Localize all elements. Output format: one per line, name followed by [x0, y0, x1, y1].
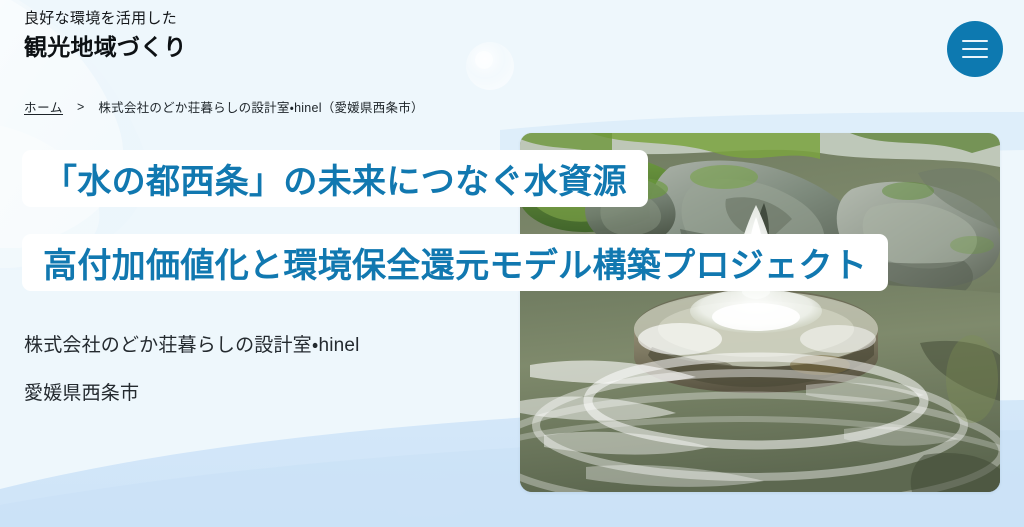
hamburger-icon-bar-top: [962, 40, 988, 42]
hero-organization-name: 株式会社のどか荘暮らしの設計室・hinel: [24, 336, 360, 355]
breadcrumb-link-home[interactable]: ホーム: [24, 97, 63, 116]
hero-title-line-2: 高付加価値化と環境保全還元モデル構築プロジェクト: [22, 234, 888, 291]
hero-meta: 株式会社のどか荘暮らしの設計室・hinel 愛媛県西条市: [24, 336, 360, 403]
brand-title: 観光地域づくり: [24, 32, 187, 63]
brand-subtitle: 良好な環境を活用した: [24, 8, 187, 31]
hero-title-line-1: 「水の都西条」の未来につなぐ水資源: [22, 150, 648, 207]
hamburger-menu-button[interactable]: [947, 21, 1003, 77]
breadcrumb-current-page: 株式会社のどか荘暮らしの設計室・hinel（愛媛県西条市）: [98, 97, 423, 116]
breadcrumb: ホーム > 株式会社のどか荘暮らしの設計室・hinel（愛媛県西条市）: [24, 97, 424, 116]
site-brand[interactable]: 良好な環境を活用した 観光地域づくり: [24, 8, 187, 63]
breadcrumb-separator: >: [77, 100, 84, 114]
hamburger-icon-bar-middle: [962, 48, 988, 50]
site-header: 良好な環境を活用した 観光地域づくり: [0, 0, 1024, 96]
hero-location: 愛媛県西条市: [24, 384, 360, 403]
hamburger-icon-bar-bottom: [962, 56, 988, 58]
